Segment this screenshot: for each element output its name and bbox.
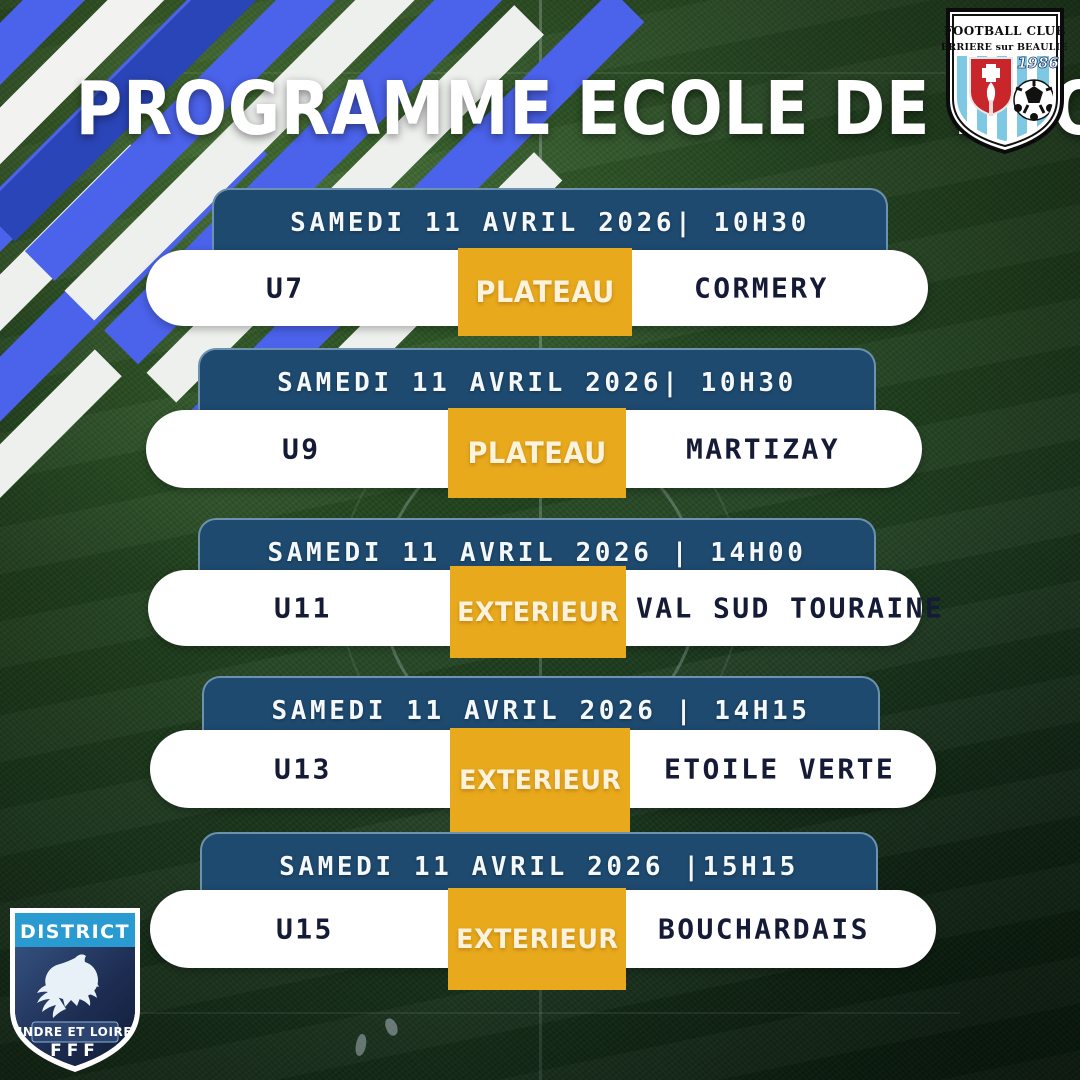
match-date-text: SAMEDI 11 AVRIL 2026| 10H30: [277, 368, 797, 398]
page-title: PROGRAMME ECOLE DE FOOT: [76, 72, 1005, 146]
match-category: U15: [276, 913, 334, 946]
match-type-text: PLATEAU: [475, 275, 614, 309]
match-date-text: SAMEDI 11 AVRIL 2026 |15H15: [279, 852, 799, 882]
match-date-band: SAMEDI 11 AVRIL 2026| 10H30: [212, 188, 888, 256]
match-type-text: PLATEAU: [467, 436, 606, 470]
district-federation: FFF: [50, 1041, 100, 1061]
district-region: INDRE ET LOIRE: [18, 1025, 132, 1039]
match-type-badge: EXTERIEUR: [448, 888, 626, 990]
match-list: SAMEDI 11 AVRIL 2026| 10H30 U7 CORMERY P…: [0, 0, 1080, 1080]
match-opponent: BOUCHARDAIS: [658, 913, 870, 946]
match-category: U9: [282, 433, 321, 466]
match-type-text: EXTERIEUR: [457, 597, 619, 628]
match-date-text: SAMEDI 11 AVRIL 2026 | 14H15: [271, 696, 810, 726]
match-date-band: SAMEDI 11 AVRIL 2026| 10H30: [198, 348, 876, 416]
match-category: U7: [266, 272, 305, 305]
match-opponent: VAL SUD TOURAINE: [636, 592, 944, 625]
match-type-badge: PLATEAU: [448, 408, 626, 498]
match-category: U11: [274, 592, 332, 625]
match-type-text: EXTERIEUR: [459, 765, 621, 796]
match-category: U13: [274, 753, 332, 786]
match-type-badge: EXTERIEUR: [450, 728, 630, 832]
crest-line2: FERRIERE sur BEAULIEU: [942, 42, 1068, 53]
crest-year: 1986: [1017, 54, 1059, 72]
district-title: DISTRICT: [20, 921, 130, 943]
match-opponent: ETOILE VERTE: [664, 753, 895, 786]
district-badge-logo: DISTRICT INDRE ET LOIRE FFF: [2, 898, 148, 1078]
match-opponent: CORMERY: [694, 272, 829, 305]
match-date-text: SAMEDI 11 AVRIL 2026| 10H30: [290, 208, 810, 238]
crest-line1: FOOTBALL CLUB: [944, 24, 1066, 38]
match-type-text: EXTERIEUR: [456, 924, 618, 955]
poster-root: PROGRAMME ECOLE DE FOOT FOOTBALL CLUB FE…: [0, 0, 1080, 1080]
match-type-badge: PLATEAU: [458, 248, 632, 336]
club-crest-logo: FOOTBALL CLUB FERRIERE sur BEAULIEU 1986: [942, 4, 1068, 156]
match-opponent: MARTIZAY: [686, 433, 840, 466]
match-type-badge: EXTERIEUR: [450, 566, 626, 658]
match-date-text: SAMEDI 11 AVRIL 2026 | 14H00: [267, 538, 806, 568]
